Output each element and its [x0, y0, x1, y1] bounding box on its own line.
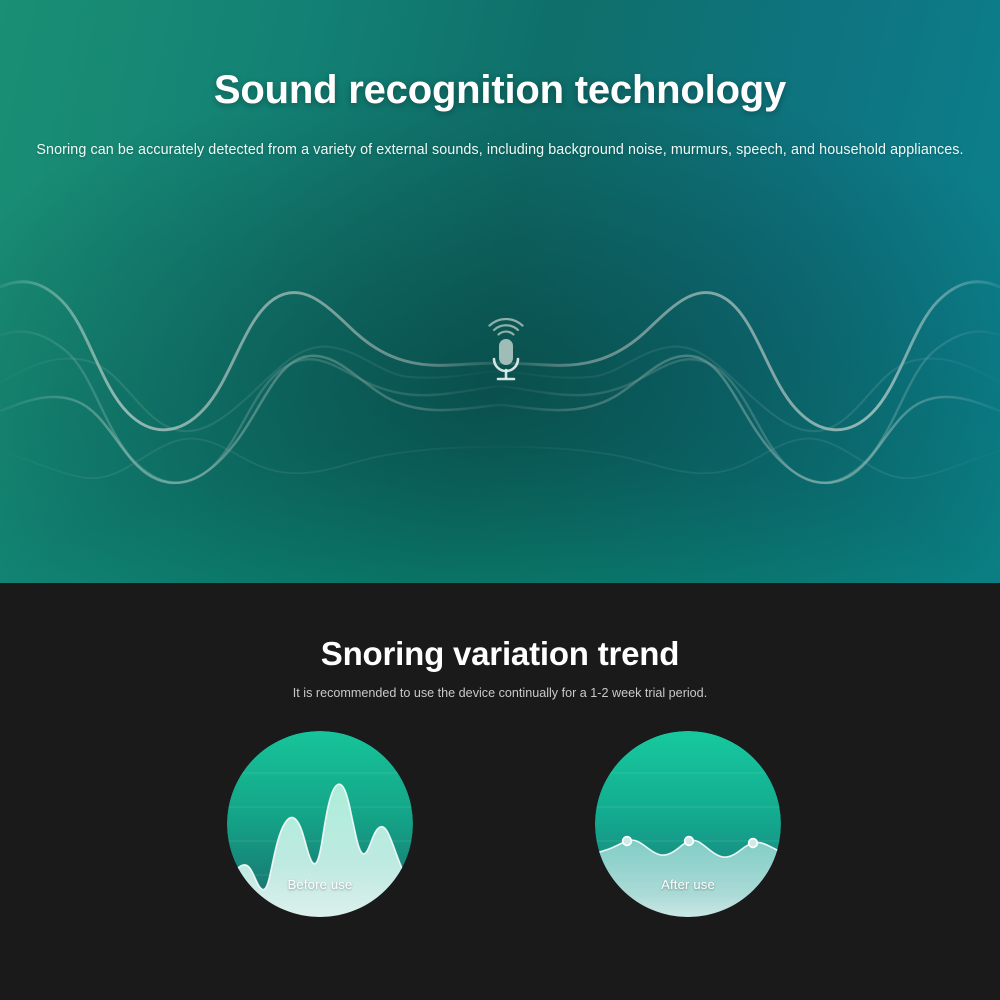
after-use-line-chart: [595, 731, 781, 917]
snoring-variation-section: Snoring variation trend It is recommende…: [0, 583, 1000, 1000]
chart-before-use: Before use: [227, 731, 413, 917]
microphone-icon: [478, 318, 534, 388]
page-title: Sound recognition technology: [0, 68, 1000, 113]
sound-recognition-section: Sound recognition technology Snoring can…: [0, 0, 1000, 583]
trend-title: Snoring variation trend: [0, 635, 1000, 673]
trend-subtitle: It is recommended to use the device cont…: [0, 686, 1000, 700]
chart-after-use: After use: [595, 731, 781, 917]
product-feature-page: Sound recognition technology Snoring can…: [0, 0, 1000, 1000]
before-use-area-chart: [227, 731, 413, 917]
page-subtitle: Snoring can be accurately detected from …: [0, 142, 1000, 158]
charts-row: Before use: [0, 731, 1000, 931]
